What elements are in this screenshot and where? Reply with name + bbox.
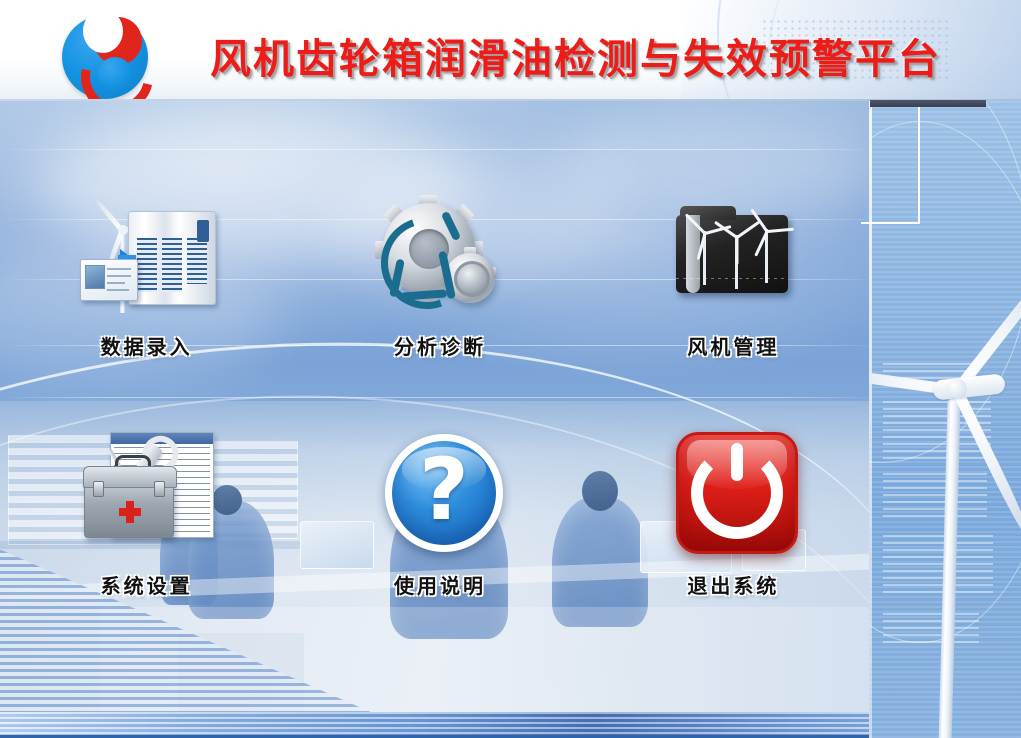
toolbox-latch (93, 481, 104, 497)
panel-text-block (883, 535, 993, 597)
panel-text-block (883, 363, 975, 383)
record-card-icon (80, 259, 138, 301)
server-vent (137, 238, 157, 292)
card-line (107, 282, 125, 284)
turbine-blade (736, 237, 739, 265)
panel-text-block (883, 613, 979, 643)
right-decorative-panel (869, 101, 1021, 738)
panel-arc-decoration (869, 101, 1021, 463)
turbine-blade (951, 253, 1021, 395)
menu-item-user-manual[interactable]: ? 使用说明 (293, 420, 586, 738)
folder-turbines-icon (658, 193, 808, 325)
server-indicator (197, 220, 209, 242)
question-mark-icon: ? (365, 428, 515, 560)
folder-turbine-icon-3 (744, 209, 790, 281)
turbine-blade (951, 386, 1021, 545)
app-header: 风机齿轮箱润滑油检测与失效预警平台 (0, 0, 1021, 101)
menu-icon-wrap (72, 428, 222, 560)
server-vent (187, 238, 207, 284)
card-photo (85, 265, 105, 289)
panel-text-block (883, 401, 991, 459)
server-vent (162, 238, 182, 292)
turbine-tower (938, 399, 960, 738)
card-line (107, 275, 131, 277)
card-line (107, 289, 129, 291)
right-panel-texture (869, 101, 1021, 738)
menu-icon-wrap: ? (365, 428, 515, 560)
main-menu-grid: 数据录入 (0, 101, 880, 738)
server-data-entry-icon (72, 193, 222, 325)
menu-icon-wrap (365, 193, 515, 325)
menu-label-turbine-management: 风机管理 (687, 331, 779, 360)
logo-white-cut (83, 9, 123, 53)
red-cross-icon (119, 501, 141, 523)
menu-item-turbine-management[interactable]: 风机管理 (587, 101, 880, 420)
turbine-blade (869, 364, 960, 396)
menu-label-data-entry: 数据录入 (101, 331, 193, 360)
power-button-face (676, 432, 798, 554)
header-accent-bar (870, 100, 986, 107)
stethoscope-chestpiece (454, 261, 490, 297)
power-ring (691, 447, 783, 539)
menu-item-analysis-diagnosis[interactable]: 分析诊断 (293, 101, 586, 420)
menu-label-user-manual: 使用说明 (394, 570, 486, 599)
turbine-blade (766, 228, 794, 233)
menu-item-data-entry[interactable]: 数据录入 (0, 101, 293, 420)
menu-item-system-settings[interactable]: 系统设置 (0, 420, 293, 738)
gears-stethoscope-icon (365, 193, 515, 325)
menu-label-system-settings: 系统设置 (101, 570, 193, 599)
menu-icon-wrap (72, 193, 222, 325)
menu-label-analysis-diagnosis: 分析诊断 (394, 331, 486, 360)
help-circle: ? (385, 434, 503, 552)
toolbox-wrench-icon (72, 428, 222, 560)
turbine-hub (947, 379, 967, 399)
power-button-icon (658, 428, 808, 560)
panel-text-block (883, 473, 987, 517)
menu-icon-wrap (658, 193, 808, 325)
card-line (107, 268, 131, 270)
toolbox-icon (84, 476, 174, 538)
application-window: 风机齿轮箱润滑油检测与失效预警平台 (0, 0, 1021, 738)
company-logo (59, 11, 154, 101)
menu-icon-wrap (658, 428, 808, 560)
mini-turbine-hub (118, 225, 128, 235)
server-rack-icon (128, 211, 216, 305)
menu-item-exit-system[interactable]: 退出系统 (587, 420, 880, 738)
panel-arc-decoration-2 (869, 121, 1021, 643)
turbine-nacelle (932, 373, 1006, 400)
toolbox-latch (154, 481, 165, 497)
power-bar (731, 443, 743, 481)
logo-blue-inner (98, 57, 132, 91)
question-glyph: ? (419, 447, 469, 533)
page-title: 风机齿轮箱润滑油检测与失效预警平台 (210, 26, 850, 84)
wind-turbine-illustration (869, 281, 1021, 738)
menu-label-exit-system: 退出系统 (687, 570, 779, 599)
